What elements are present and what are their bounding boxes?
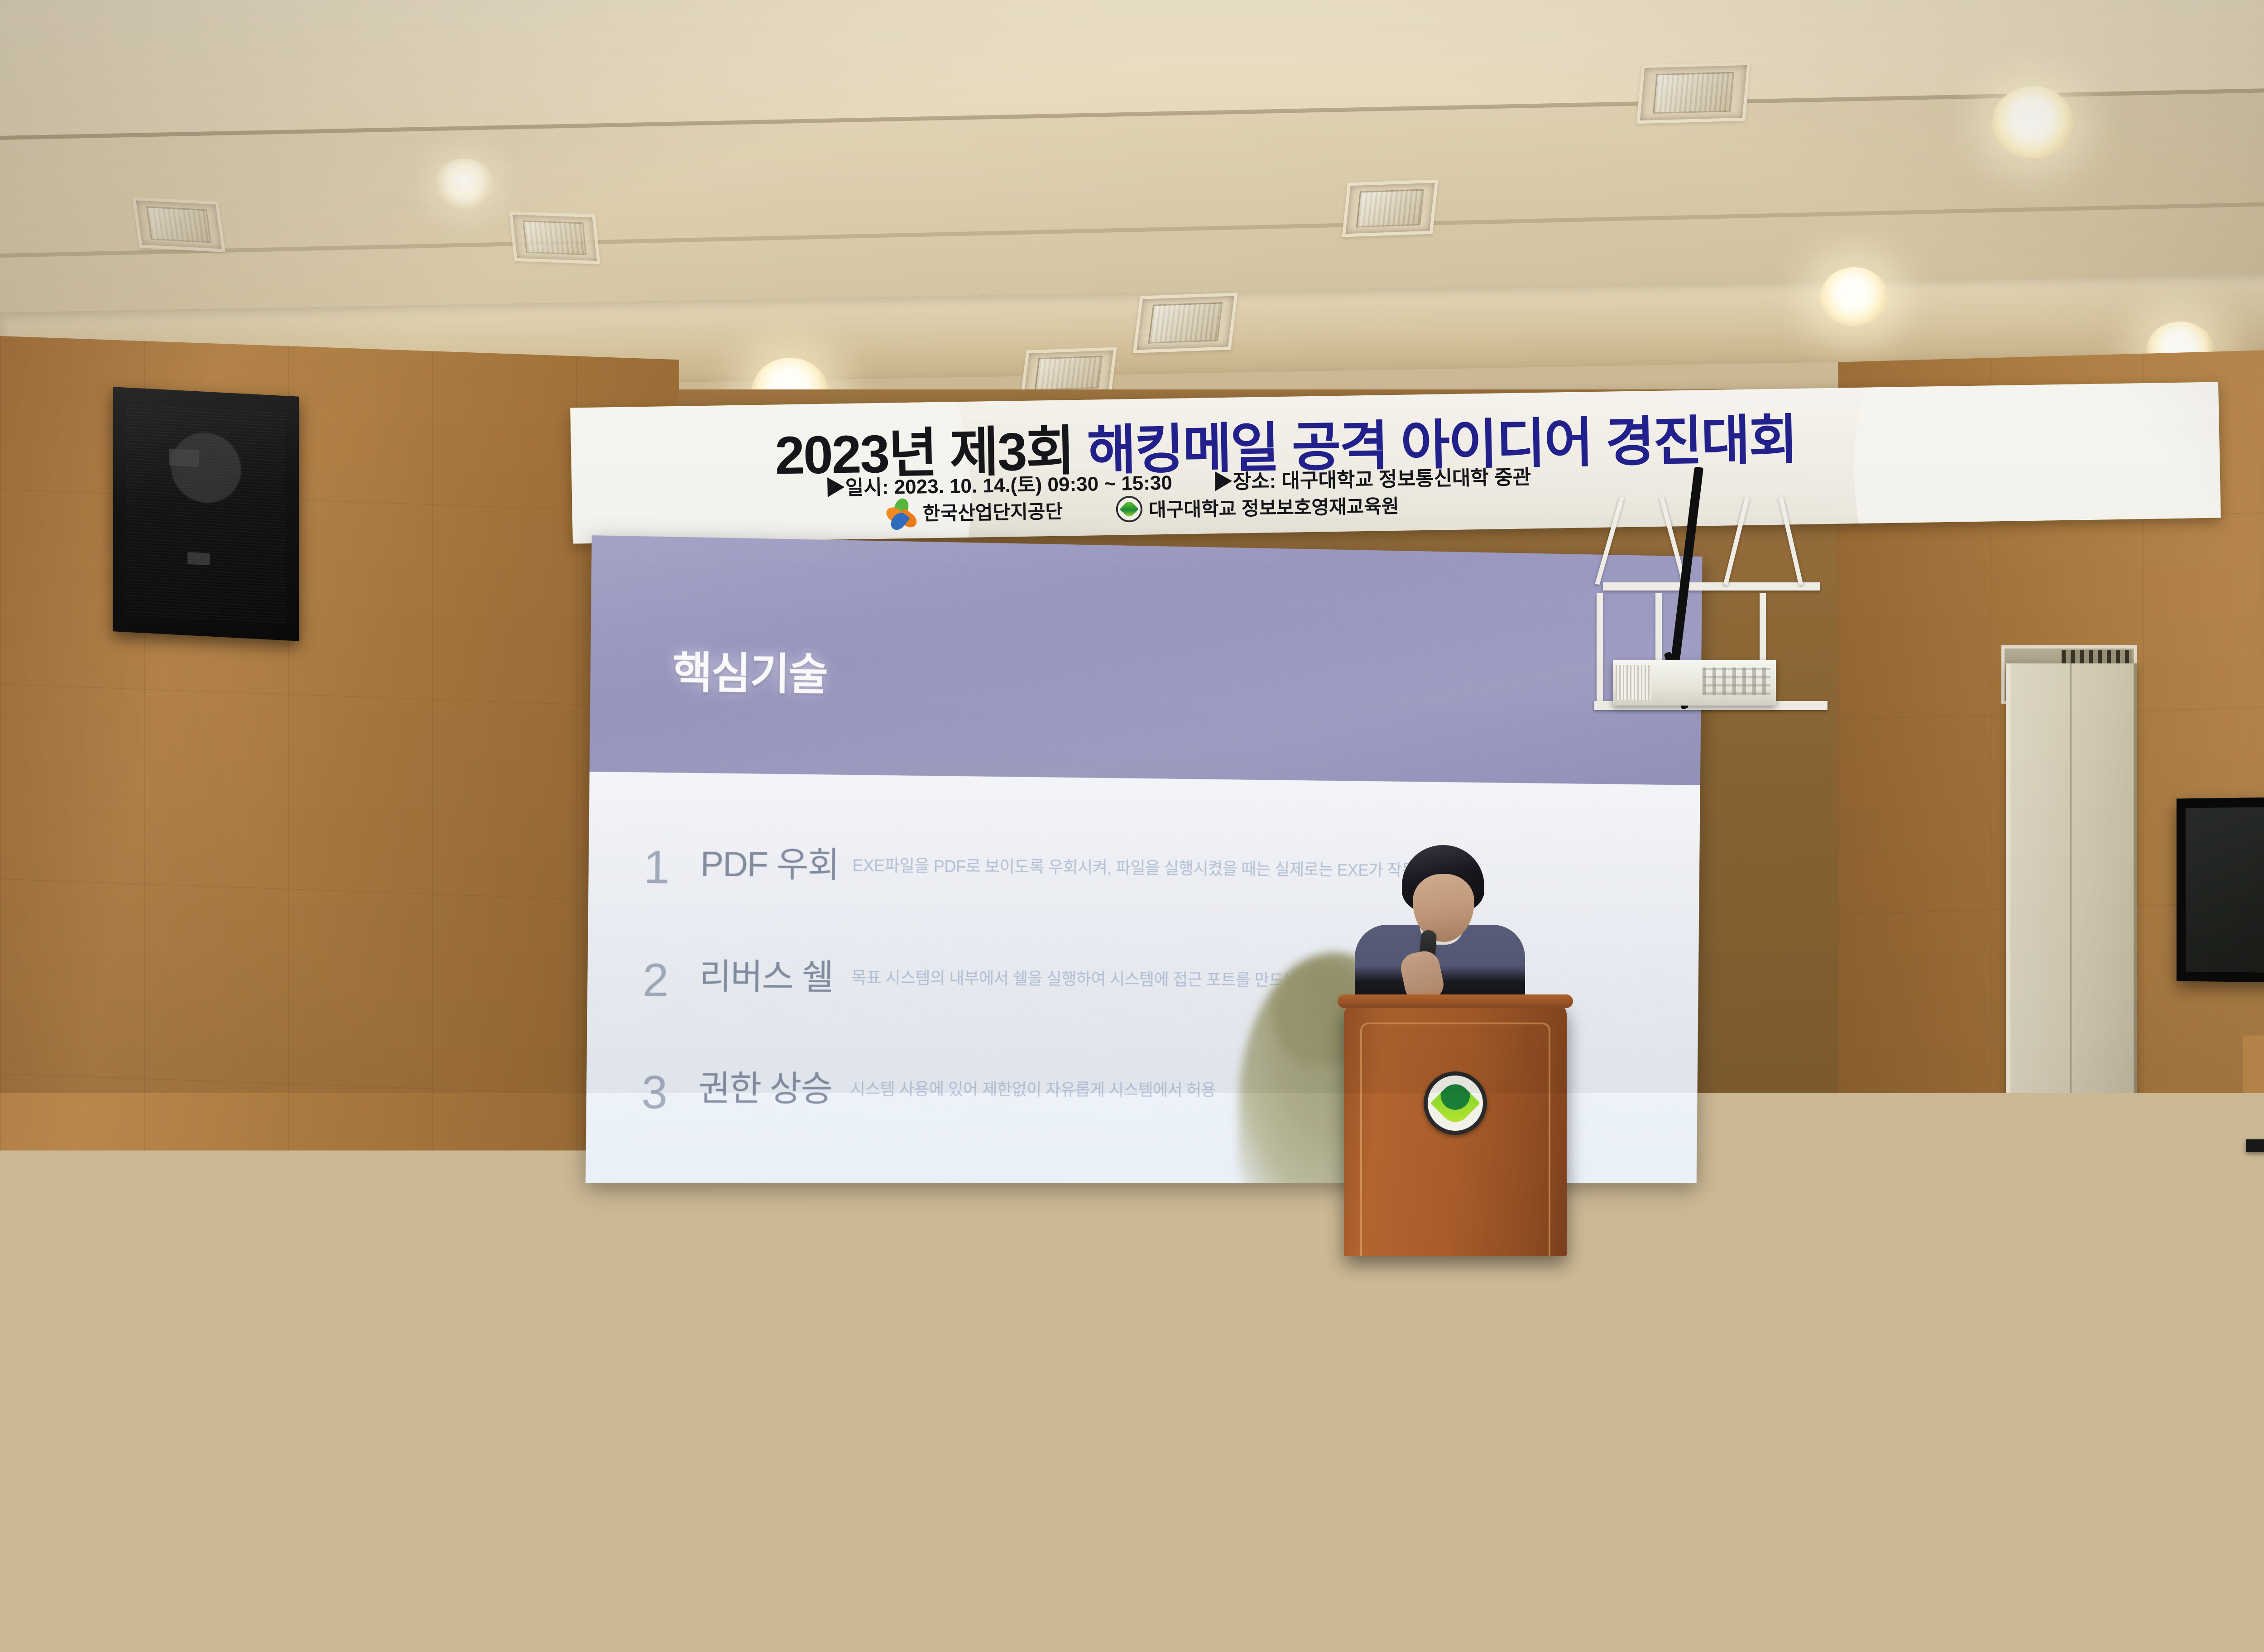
flat-panel-display[interactable] bbox=[2177, 795, 2264, 985]
recessed-square-vent-icon bbox=[509, 211, 600, 264]
round-downlight-icon bbox=[1820, 267, 1888, 326]
audience-head bbox=[172, 1235, 248, 1320]
seated-audience bbox=[0, 1186, 2264, 1652]
kicox-flower-icon bbox=[889, 499, 916, 526]
sponsor-logo-kicox: 한국산업단지공단 bbox=[889, 496, 1063, 527]
recessed-square-vent-icon bbox=[132, 197, 225, 252]
slide-item-number: 2 bbox=[643, 957, 700, 1004]
slide-item-number: 3 bbox=[641, 1069, 698, 1116]
podium-top-rail bbox=[1338, 994, 1573, 1008]
slide-item-description: 목표 시스템의 내부에서 쉘을 실행하여 시스템에 접근 포트를 만드는 기술 bbox=[851, 958, 1665, 994]
ceiling-projector bbox=[1613, 660, 1776, 706]
daegu-university-seal-icon bbox=[1116, 495, 1142, 522]
projector-vent-icon bbox=[1616, 665, 1651, 700]
audience-head bbox=[1965, 1236, 2041, 1321]
audience-head bbox=[1069, 1237, 1144, 1321]
display-panel bbox=[2186, 805, 2264, 975]
audience-head bbox=[466, 1237, 542, 1321]
speaker-badge bbox=[187, 552, 210, 566]
auditorium-seat[interactable] bbox=[2210, 1513, 2264, 1652]
round-downlight-icon bbox=[435, 158, 494, 209]
recessed-square-vent-icon bbox=[1636, 62, 1750, 124]
speaker-badge bbox=[169, 448, 199, 467]
audience-head bbox=[1367, 1236, 1443, 1321]
projector-ports-icon bbox=[1703, 668, 1770, 695]
sponsor-name-kicox: 한국산업단지공단 bbox=[922, 496, 1063, 526]
wall-speaker-left bbox=[113, 387, 299, 641]
audience-head bbox=[18, 1241, 91, 1322]
recessed-square-vent-icon bbox=[1342, 180, 1439, 237]
rig-bar bbox=[1603, 582, 1820, 591]
slide-title: 핵심기술 bbox=[672, 637, 828, 702]
event-banner: 2023년 제3회 해킹메일 공격 아이디어 경진대회 ▶일시: 2023. 1… bbox=[570, 382, 2221, 543]
rig-post bbox=[1597, 593, 1603, 706]
display-stand-shelf bbox=[2246, 1139, 2264, 1152]
sponsor-logo-daegu-university: 대구대학교 정보보호영재교육원 bbox=[1116, 491, 1399, 523]
daegu-university-seal-icon bbox=[1424, 1071, 1487, 1135]
audience-head bbox=[1666, 1237, 1741, 1320]
recessed-square-vent-icon bbox=[1133, 293, 1238, 353]
speaker-grille-icon bbox=[126, 405, 286, 624]
round-downlight-icon bbox=[1992, 86, 2074, 158]
sponsor-name-daegu: 대구대학교 정보보호영재교육원 bbox=[1148, 491, 1399, 523]
ceiling-projector-rig bbox=[1576, 539, 1847, 729]
slide-item-term: PDF 우회 bbox=[700, 844, 853, 885]
slide-item-term: 리버스 쉘 bbox=[699, 957, 852, 998]
slide-item-number: 1 bbox=[643, 844, 700, 891]
slide-item-term: 권한 상승 bbox=[698, 1069, 851, 1109]
exit-door[interactable] bbox=[2006, 663, 2137, 1157]
auditorium-photo-scene: 2023년 제3회 해킹메일 공격 아이디어 경진대회 ▶일시: 2023. 1… bbox=[0, 0, 2264, 1652]
audience-head bbox=[770, 1236, 846, 1321]
